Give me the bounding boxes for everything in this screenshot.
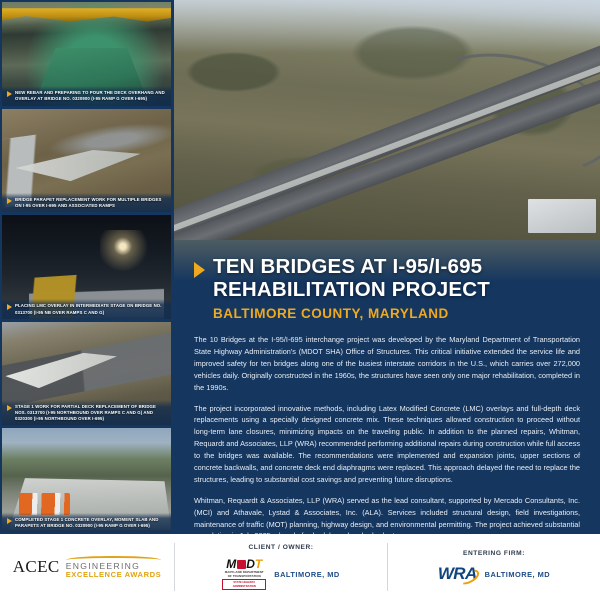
poster-footer: ACEC ENGINEERING EXCELLENCE AWARDS CLIEN… [0, 534, 600, 600]
mdot-letter-m: M [226, 558, 236, 570]
entering-firm-row: WRA BALTIMORE, MD [438, 564, 550, 584]
photo-caption-text: BRIDGE PARAPET REPLACEMENT WORK FOR MULT… [15, 197, 167, 209]
mdot-wordmark: M D T [226, 558, 262, 570]
triangle-arrow-icon [7, 304, 12, 310]
triangle-arrow-icon [194, 262, 205, 278]
project-description-panel: TEN BRIDGES AT I-95/I-695 REHABILITATION… [174, 240, 600, 534]
acec-award-text: ENGINEERING EXCELLENCE AWARDS [66, 556, 162, 578]
client-owner-row: M D T MARYLAND DEPARTMENT OF TRANSPORTAT… [222, 558, 339, 590]
acec-award-section: ACEC ENGINEERING EXCELLENCE AWARDS [0, 534, 174, 600]
entering-firm-section: ENTERING FIRM: WRA BALTIMORE, MD [388, 534, 600, 600]
triangle-arrow-icon [7, 405, 12, 411]
photo-caption-5: COMPLETED STAGE 1 CONCRETE OVERLAY, MOME… [2, 513, 171, 532]
photo-card-5: COMPLETED STAGE 1 CONCRETE OVERLAY, MOME… [2, 428, 171, 532]
narrative-paragraph-1: The 10 Bridges at the I-95/I-695 interch… [194, 334, 580, 393]
photo-card-3: PLACING LMC OVERLAY IN INTERMEDIATE STAG… [2, 215, 171, 319]
photo-caption-text: COMPLETED STAGE 1 CONCRETE OVERLAY, MOME… [15, 517, 167, 529]
photo-card-2: BRIDGE PARAPET REPLACEMENT WORK FOR MULT… [2, 109, 171, 213]
mdot-sha-logo: M D T MARYLAND DEPARTMENT OF TRANSPORTAT… [222, 558, 266, 590]
project-poster: NEW REBAR AND PREPARING TO POUR THE DECK… [0, 0, 600, 600]
client-owner-city: BALTIMORE, MD [274, 570, 339, 579]
client-owner-section: CLIENT / OWNER: M D T MARYLAND DEPARTMEN… [175, 534, 387, 600]
title-text-group: TEN BRIDGES AT I-95/I-695 REHABILITATION… [213, 256, 584, 321]
photo-caption-2: BRIDGE PARAPET REPLACEMENT WORK FOR MULT… [2, 193, 171, 212]
client-owner-label: CLIENT / OWNER: [248, 544, 313, 551]
photo-card-4: STAGE 1 WORK FOR PARTIAL DECK REPLACEMEN… [2, 322, 171, 426]
triangle-arrow-icon [7, 518, 12, 524]
hero-commercial-building [528, 199, 596, 233]
photo-caption-3: PLACING LMC OVERLAY IN INTERMEDIATE STAG… [2, 299, 171, 318]
entering-firm-label: ENTERING FIRM: [463, 550, 525, 557]
photo-caption-text: PLACING LMC OVERLAY IN INTERMEDIATE STAG… [15, 303, 167, 315]
acec-excellence-awards-label: EXCELLENCE AWARDS [66, 571, 162, 579]
photo-column: NEW REBAR AND PREPARING TO POUR THE DECK… [0, 0, 174, 534]
entering-firm-city: BALTIMORE, MD [485, 570, 550, 579]
wra-logo: WRA [438, 564, 477, 584]
mdot-sha-division-name: STATE HIGHWAY ADMINISTRATION [222, 579, 266, 589]
title-block: TEN BRIDGES AT I-95/I-695 REHABILITATION… [194, 256, 584, 321]
triangle-arrow-icon [7, 91, 12, 97]
mdot-agency-name: MARYLAND DEPARTMENT OF TRANSPORTATION [222, 571, 266, 578]
photo-caption-4: STAGE 1 WORK FOR PARTIAL DECK REPLACEMEN… [2, 400, 171, 426]
photo-caption-text: NEW REBAR AND PREPARING TO POUR THE DECK… [15, 90, 167, 102]
project-narrative: The 10 Bridges at the I-95/I-695 interch… [194, 334, 584, 542]
mdot-letter-d: D [246, 558, 255, 570]
photo-card-1: NEW REBAR AND PREPARING TO POUR THE DECK… [2, 2, 171, 106]
hero-aerial-interchange-photo [174, 0, 600, 240]
mdot-letter-t: T [255, 558, 262, 570]
acec-wordmark: ACEC [13, 557, 60, 577]
page-subtitle: BALTIMORE COUNTY, MARYLAND [213, 306, 584, 321]
triangle-arrow-icon [7, 198, 12, 204]
acec-arc-icon [66, 556, 162, 560]
mdot-square-icon [237, 560, 246, 569]
acec-logo: ACEC ENGINEERING EXCELLENCE AWARDS [13, 556, 162, 578]
page-title: TEN BRIDGES AT I-95/I-695 REHABILITATION… [213, 256, 584, 301]
photo-caption-1: NEW REBAR AND PREPARING TO POUR THE DECK… [2, 86, 171, 105]
photo-caption-text: STAGE 1 WORK FOR PARTIAL DECK REPLACEMEN… [15, 404, 167, 423]
narrative-paragraph-2: The project incorporated innovative meth… [194, 403, 580, 486]
